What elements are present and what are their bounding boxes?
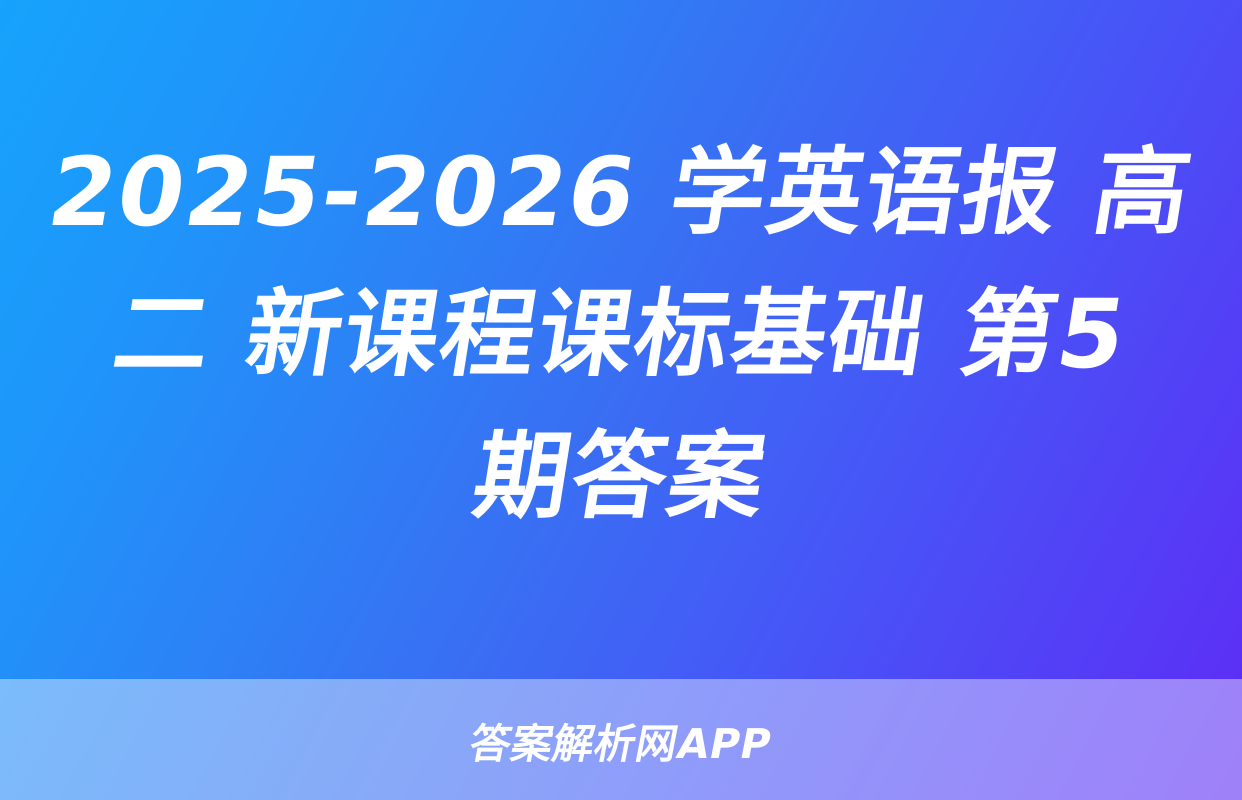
banner-title-line-1: 2025-2026 学英语报 高 bbox=[39, 122, 1203, 264]
promo-banner: 2025-2026 学英语报 高 二 新课程课标基础 第5 期答案 答案解析网A… bbox=[0, 0, 1242, 800]
banner-footer-band: 答案解析网APP bbox=[0, 679, 1242, 800]
banner-title-line-2: 二 新课程课标基础 第5 bbox=[104, 264, 1138, 406]
app-watermark-label: 答案解析网APP bbox=[465, 710, 778, 770]
banner-title-line-3: 期答案 bbox=[464, 406, 778, 548]
banner-title-block: 2025-2026 学英语报 高 二 新课程课标基础 第5 期答案 bbox=[0, 0, 1242, 679]
